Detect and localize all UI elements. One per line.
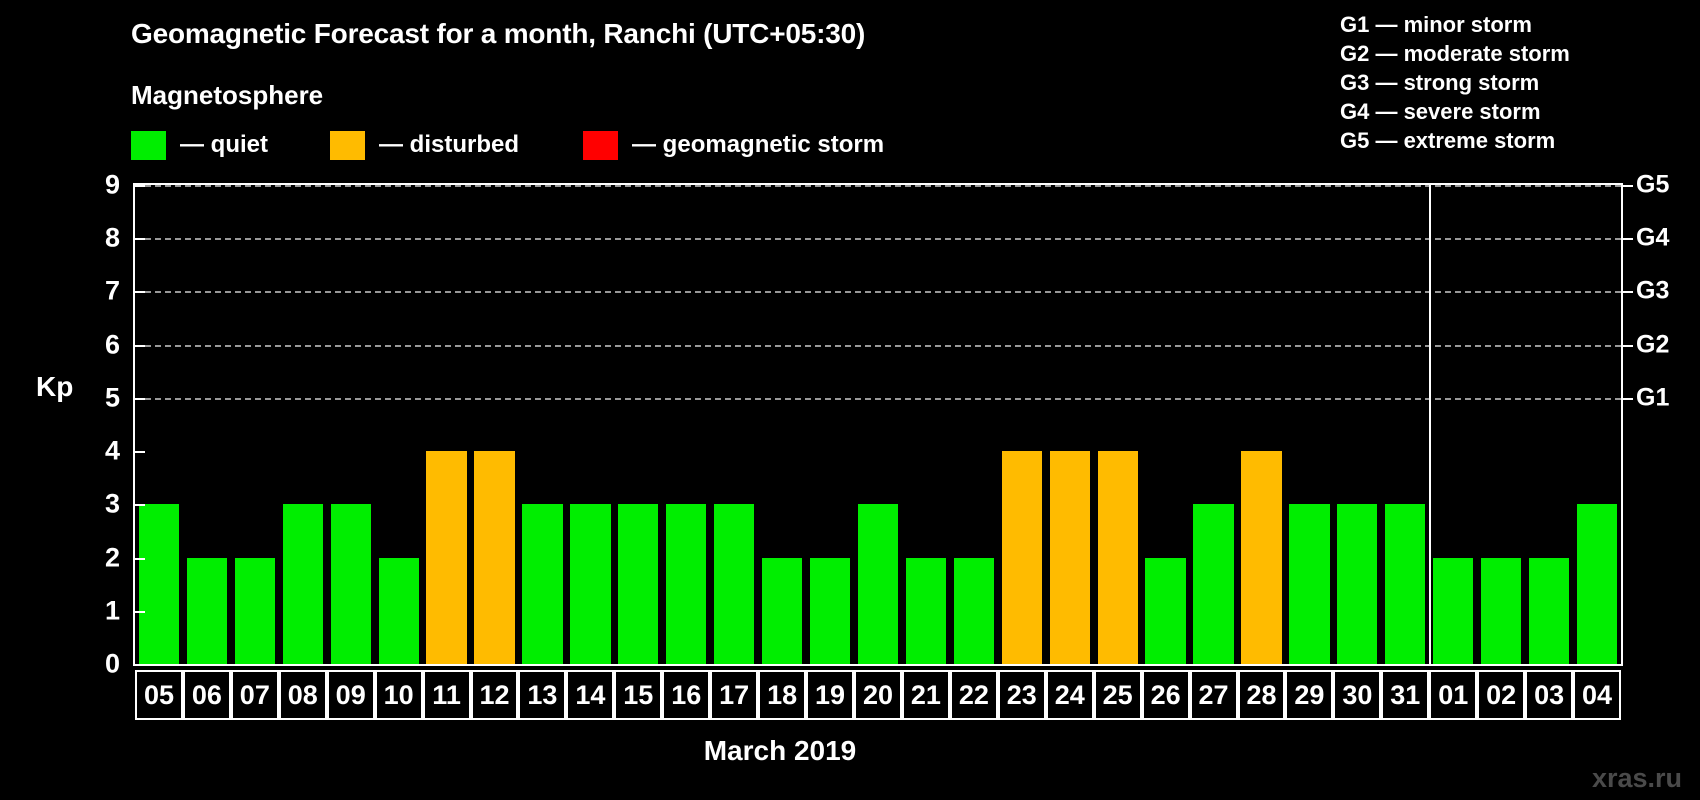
bars-layer xyxy=(135,185,1621,664)
y-tick-label-8: 8 xyxy=(105,225,120,252)
g-tick-label-G5: G5 xyxy=(1636,173,1669,198)
forecast-divider-line xyxy=(1429,185,1431,664)
g-tick-mark xyxy=(1621,238,1633,240)
bar-29 xyxy=(1289,504,1329,664)
date-cell-21[interactable]: 21 xyxy=(902,670,950,720)
bar-11 xyxy=(426,451,466,664)
bar-22 xyxy=(954,558,994,664)
bar-12 xyxy=(474,451,514,664)
date-cell-06[interactable]: 06 xyxy=(183,670,231,720)
bar-25 xyxy=(1098,451,1138,664)
bar-27 xyxy=(1193,504,1233,664)
y-tick-mark xyxy=(133,345,145,347)
bar-24 xyxy=(1050,451,1090,664)
g-tick-mark xyxy=(1621,398,1633,400)
date-cell-04[interactable]: 04 xyxy=(1573,670,1621,720)
legend-label-quiet: — quiet xyxy=(180,131,268,159)
gridline xyxy=(135,185,1621,187)
bar-02 xyxy=(1481,558,1521,664)
g-scale-line: G3 — strong storm xyxy=(1340,68,1670,97)
y-tick-label-9: 9 xyxy=(105,172,120,199)
date-cell-22[interactable]: 22 xyxy=(950,670,998,720)
bar-18 xyxy=(762,558,802,664)
g-scale-line: G5 — extreme storm xyxy=(1340,126,1670,155)
g-tick-mark xyxy=(1621,185,1633,187)
g-tick-label-G2: G2 xyxy=(1636,332,1669,357)
date-cell-28[interactable]: 28 xyxy=(1238,670,1286,720)
disturbed-color-swatch xyxy=(330,131,365,160)
date-cell-24[interactable]: 24 xyxy=(1046,670,1094,720)
bar-31 xyxy=(1385,504,1425,664)
bar-17 xyxy=(714,504,754,664)
legend-label-storm: — geomagnetic storm xyxy=(632,131,884,159)
storm-color-swatch xyxy=(583,131,618,160)
g-tick-mark xyxy=(1621,345,1633,347)
bar-10 xyxy=(379,558,419,664)
date-cell-26[interactable]: 26 xyxy=(1142,670,1190,720)
magnetosphere-legend: — quiet — disturbed — geomagnetic storm xyxy=(131,128,884,162)
legend-item-disturbed: — disturbed xyxy=(330,131,519,160)
bar-19 xyxy=(810,558,850,664)
date-cell-03[interactable]: 03 xyxy=(1525,670,1573,720)
g-tick-label-G3: G3 xyxy=(1636,279,1669,304)
date-cell-30[interactable]: 30 xyxy=(1333,670,1381,720)
date-cell-31[interactable]: 31 xyxy=(1381,670,1429,720)
date-cell-14[interactable]: 14 xyxy=(566,670,614,720)
date-cell-09[interactable]: 09 xyxy=(327,670,375,720)
date-cell-20[interactable]: 20 xyxy=(854,670,902,720)
bar-15 xyxy=(618,504,658,664)
bar-26 xyxy=(1145,558,1185,664)
gridline xyxy=(135,238,1621,240)
y-tick-label-1: 1 xyxy=(105,597,120,624)
date-cell-29[interactable]: 29 xyxy=(1285,670,1333,720)
date-cell-07[interactable]: 07 xyxy=(231,670,279,720)
bar-14 xyxy=(570,504,610,664)
date-cell-11[interactable]: 11 xyxy=(423,670,471,720)
bar-06 xyxy=(187,558,227,664)
g-tick-mark xyxy=(1621,291,1633,293)
y-tick-label-7: 7 xyxy=(105,278,120,305)
bar-05 xyxy=(139,504,179,664)
x-axis-title-text: March 2019 xyxy=(704,735,857,766)
gridline xyxy=(135,398,1621,400)
g-axis-labels: G1G2G3G4G5 xyxy=(1636,183,1696,666)
y-tick-mark xyxy=(133,504,145,506)
legend-item-storm: — geomagnetic storm xyxy=(583,131,884,160)
plot-area xyxy=(133,183,1623,666)
g-tick-label-G4: G4 xyxy=(1636,226,1669,251)
gridline xyxy=(135,291,1621,293)
date-cell-10[interactable]: 10 xyxy=(375,670,423,720)
date-cell-13[interactable]: 13 xyxy=(518,670,566,720)
gridline xyxy=(135,345,1621,347)
legend-label-disturbed: — disturbed xyxy=(379,131,519,159)
date-cell-18[interactable]: 18 xyxy=(758,670,806,720)
bar-01 xyxy=(1433,558,1473,664)
y-tick-mark xyxy=(133,451,145,453)
y-tick-mark xyxy=(133,291,145,293)
bar-16 xyxy=(666,504,706,664)
geomagnetic-forecast-chart: Geomagnetic Forecast for a month, Ranchi… xyxy=(0,0,1700,800)
bar-09 xyxy=(331,504,371,664)
y-tick-label-6: 6 xyxy=(105,331,120,358)
y-axis-labels: 0123456789 xyxy=(76,183,120,666)
y-axis-title: Kp xyxy=(36,371,73,403)
g-scale-line: G2 — moderate storm xyxy=(1340,39,1670,68)
quiet-color-swatch xyxy=(131,131,166,160)
bar-20 xyxy=(858,504,898,664)
plot-inner xyxy=(135,185,1621,664)
bar-04 xyxy=(1577,504,1617,664)
y-tick-label-4: 4 xyxy=(105,438,120,465)
date-cell-27[interactable]: 27 xyxy=(1190,670,1238,720)
x-axis-date-row: 0506070809101112131415161718192021222324… xyxy=(133,670,1623,720)
bar-08 xyxy=(283,504,323,664)
g-scale-line: G1 — minor storm xyxy=(1340,10,1670,39)
date-cell-17[interactable]: 17 xyxy=(710,670,758,720)
date-cell-08[interactable]: 08 xyxy=(279,670,327,720)
bar-03 xyxy=(1529,558,1569,664)
g-tick-label-G1: G1 xyxy=(1636,385,1669,410)
y-tick-mark xyxy=(133,238,145,240)
date-cell-25[interactable]: 25 xyxy=(1094,670,1142,720)
date-cell-01[interactable]: 01 xyxy=(1429,670,1477,720)
y-tick-mark xyxy=(133,611,145,613)
date-cell-23[interactable]: 23 xyxy=(998,670,1046,720)
date-cell-12[interactable]: 12 xyxy=(471,670,519,720)
legend-item-quiet: — quiet xyxy=(131,131,268,160)
date-cell-05[interactable]: 05 xyxy=(135,670,183,720)
y-tick-mark xyxy=(133,398,145,400)
site-watermark: xras.ru xyxy=(1592,763,1682,794)
g-scale-line: G4 — severe storm xyxy=(1340,97,1670,126)
date-cell-15[interactable]: 15 xyxy=(614,670,662,720)
x-axis-title: March 2019 xyxy=(0,735,1700,767)
bar-21 xyxy=(906,558,946,664)
legend-heading: Magnetosphere xyxy=(131,80,323,111)
y-tick-label-2: 2 xyxy=(105,544,120,571)
y-tick-label-3: 3 xyxy=(105,491,120,518)
y-tick-mark xyxy=(133,185,145,187)
date-cell-19[interactable]: 19 xyxy=(806,670,854,720)
g-scale-legend: G1 — minor storm G2 — moderate storm G3 … xyxy=(1340,10,1670,155)
bar-23 xyxy=(1002,451,1042,664)
y-tick-label-0: 0 xyxy=(105,651,120,678)
bar-13 xyxy=(522,504,562,664)
y-tick-label-5: 5 xyxy=(105,384,120,411)
page-title: Geomagnetic Forecast for a month, Ranchi… xyxy=(131,18,865,50)
bar-07 xyxy=(235,558,275,664)
bar-30 xyxy=(1337,504,1377,664)
date-cell-16[interactable]: 16 xyxy=(662,670,710,720)
bar-28 xyxy=(1241,451,1281,664)
date-cell-02[interactable]: 02 xyxy=(1477,670,1525,720)
y-tick-mark xyxy=(133,558,145,560)
